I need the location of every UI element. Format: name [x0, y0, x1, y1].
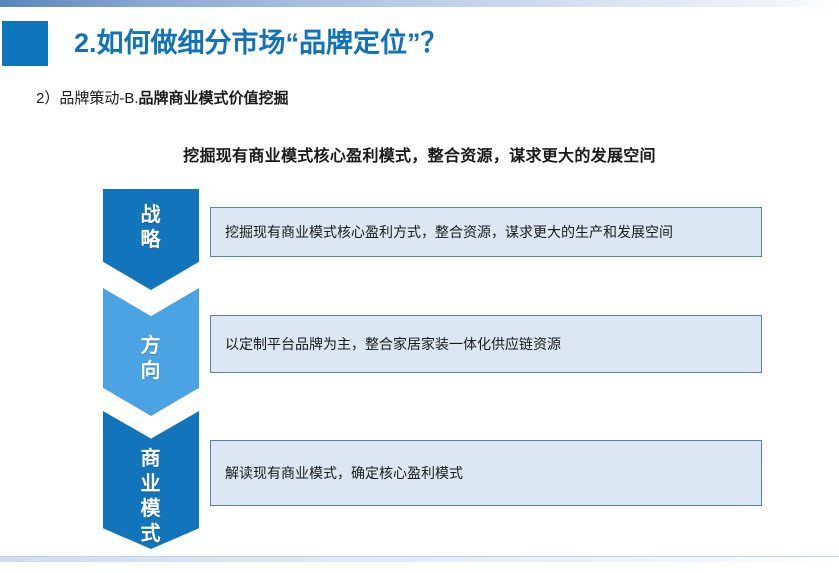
subtitle: 2）品牌策动-B.品牌商业模式价值挖掘 — [36, 88, 289, 110]
chevron-stage-direction[interactable]: 方向 — [103, 288, 199, 416]
content-box-direction[interactable]: 以定制平台品牌为主，整合家居家装一体化供应链资源 — [210, 315, 762, 373]
page-title: 2.如何做细分市场“品牌定位”？ — [74, 22, 448, 64]
lead-heading: 挖掘现有商业模式核心盈利模式，整合资源，谋求更大的发展空间 — [0, 142, 839, 166]
chevron-label-strategy: 战略 — [103, 203, 199, 253]
content-box-strategy[interactable]: 挖掘现有商业模式核心盈利方式，整合资源，谋求更大的生产和发展空间 — [210, 207, 762, 257]
chevron-label-business-model: 商业模式 — [103, 447, 199, 547]
footer-divider — [0, 556, 839, 562]
subtitle-emphasis: 品牌商业模式价值挖掘 — [139, 90, 289, 107]
chevron-stage-strategy[interactable]: 战略 — [103, 189, 199, 290]
chevron-label-direction: 方向 — [103, 334, 199, 384]
subtitle-prefix: 2）品牌策动-B. — [36, 90, 139, 107]
content-box-business-model[interactable]: 解读现有商业模式，确定核心盈利模式 — [210, 440, 762, 506]
chevron-stage-business-model[interactable]: 商业模式 — [103, 411, 199, 549]
chevron-flow: 战略 方向 商业模式 — [103, 189, 199, 549]
top-gradient-bar — [0, 0, 839, 7]
slide-canvas: 2.如何做细分市场“品牌定位”？ 2）品牌策动-B.品牌商业模式价值挖掘 挖掘现… — [0, 0, 839, 573]
title-accent-block — [2, 21, 48, 66]
